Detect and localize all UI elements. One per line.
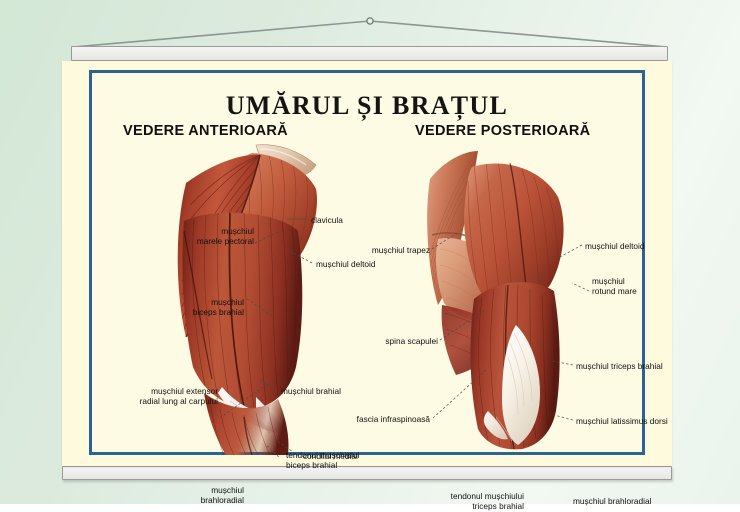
label-brahioradial-posterior: mușchiul brahloradial (573, 496, 651, 506)
label-brahial: mușchiul brahial (281, 386, 341, 396)
hanging-ring (367, 18, 373, 24)
label-condilul-medial: condilul medial (303, 451, 358, 461)
top-rail (71, 46, 668, 61)
poster-scene: UMĂRUL ȘI BRAȚUL VEDERE ANTERIOARĂ VEDER… (0, 0, 740, 504)
label-brahioradial-anterior: mușchiul brahloradial (132, 485, 244, 506)
poster-sheet: UMĂRUL ȘI BRAȚUL VEDERE ANTERIOARĂ VEDER… (62, 61, 672, 466)
label-fascia-infraspinoasa: fascia infraspinoasă (336, 414, 430, 424)
label-marele-pectoral: mușchiul marele pectoral (114, 226, 254, 247)
bottom-rail (62, 466, 672, 480)
label-latissimus-dorsi: mușchiul latissimus dorsi (576, 416, 668, 426)
label-spina-scapulei: spina scapulei (354, 336, 438, 346)
label-trapez: mușchiul trapez (344, 245, 430, 255)
label-deltoid-posterior: mușchiul deltoid (585, 241, 645, 251)
label-triceps-brahial: mușchiul triceps brahial (576, 361, 663, 371)
label-tendon-triceps-brahial: tendonul mușchiului triceps brahial (412, 491, 524, 512)
label-clavicula: clavicula (311, 215, 343, 225)
label-rotund-mare: mușchiul rotund mare (592, 276, 637, 297)
label-biceps-brahial: mușchiul biceps brahial (114, 297, 244, 318)
label-deltoid-anterior: mușchiul deltoid (316, 259, 376, 269)
label-extensor-radial-lung-carp: mușchiul extensor radial lung al carpulu… (106, 386, 218, 407)
label-layer: clavicula mușchiul marele pectoral mușch… (92, 73, 648, 458)
poster-inner-border: UMĂRUL ȘI BRAȚUL VEDERE ANTERIOARĂ VEDER… (89, 70, 645, 455)
